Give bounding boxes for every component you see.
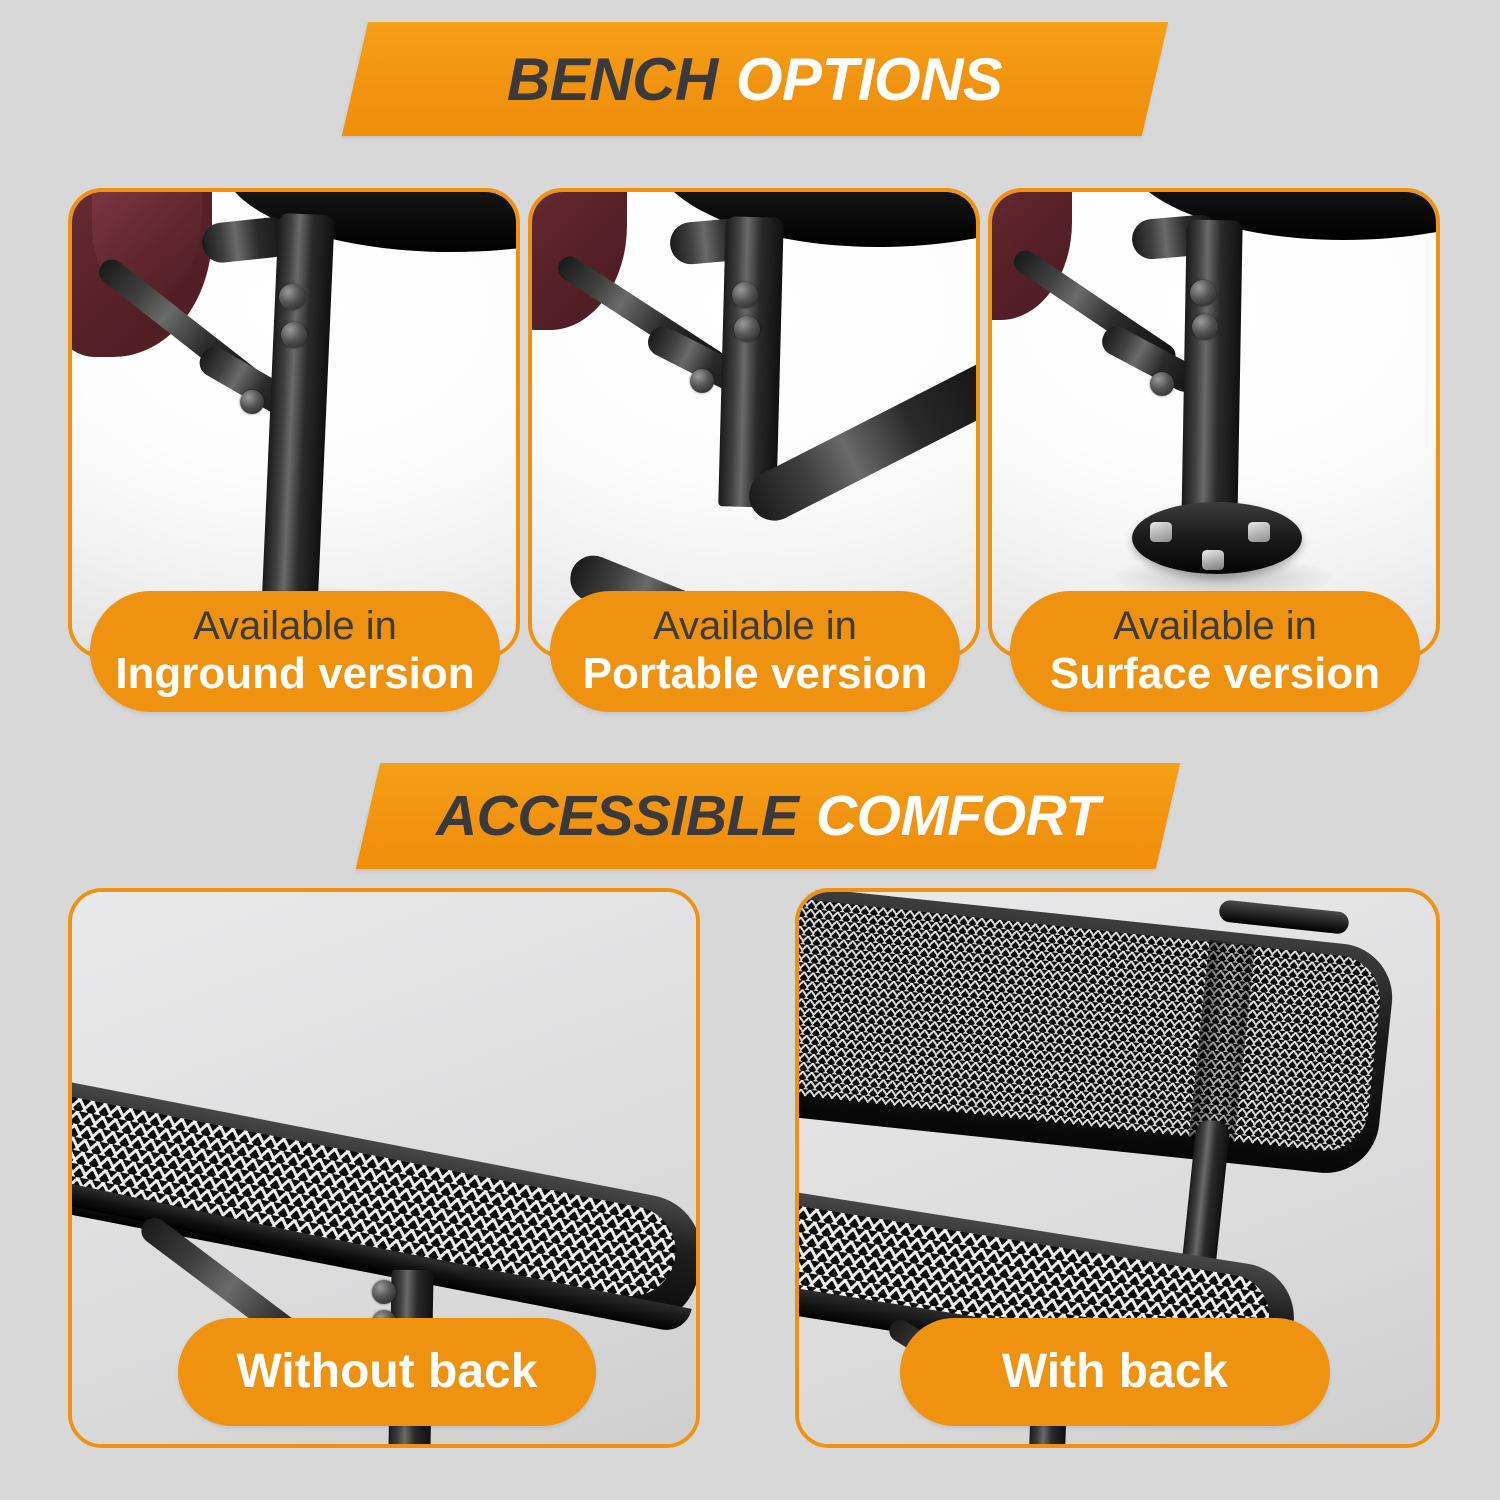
vertical-post: [1181, 220, 1242, 531]
pill-line-secondary: Surface version: [1050, 649, 1380, 698]
section-banner-bench-options: BENCH OPTIONS: [342, 22, 1168, 136]
pill-with-back[interactable]: With back: [900, 1318, 1330, 1426]
pill-line-primary: Available in: [653, 604, 857, 649]
post-bolt-lower: [281, 322, 307, 348]
photo-inground-mount: [72, 192, 516, 654]
brace-pivot-bolt: [240, 390, 264, 414]
pill-line-secondary: Portable version: [583, 649, 928, 698]
anchor-bolt-left: [1150, 522, 1172, 542]
banner-word-dark: ACCESSIBLE: [436, 783, 798, 849]
brace-pivot-bolt: [690, 369, 714, 393]
pill-inground[interactable]: Available in Inground version: [90, 591, 500, 712]
banner-word-light: OPTIONS: [736, 45, 1003, 114]
banner-word-dark: BENCH: [507, 45, 718, 114]
card-surface[interactable]: [988, 188, 1440, 658]
section-banner-accessible-comfort: ACCESSIBLE COMFORT: [356, 763, 1180, 869]
leg-bolt-upper: [372, 1280, 396, 1304]
pill-portable[interactable]: Available in Portable version: [550, 591, 960, 712]
pill-label: Without back: [237, 1345, 538, 1399]
vertical-post: [718, 216, 784, 507]
anchor-bolt-right: [1248, 522, 1270, 542]
pill-line-secondary: Inground version: [115, 649, 474, 698]
post-bolt-lower: [734, 316, 760, 342]
pill-surface[interactable]: Available in Surface version: [1010, 591, 1420, 712]
pill-line-primary: Available in: [1113, 604, 1317, 649]
photo-surface-mount: [992, 192, 1436, 654]
card-portable[interactable]: [528, 188, 980, 658]
card-inground[interactable]: [68, 188, 520, 658]
post-bolt-upper: [732, 282, 758, 308]
brace-pivot-bolt: [1150, 372, 1174, 396]
pill-without-back[interactable]: Without back: [178, 1318, 596, 1426]
pill-label: With back: [1002, 1345, 1228, 1399]
post-bolt-upper: [1190, 280, 1216, 306]
post-bolt-lower: [1192, 314, 1218, 340]
photo-portable-mount: [532, 192, 976, 654]
banner-word-light: COMFORT: [816, 783, 1100, 849]
post-bolt-upper: [279, 284, 305, 310]
pill-line-primary: Available in: [193, 604, 397, 649]
